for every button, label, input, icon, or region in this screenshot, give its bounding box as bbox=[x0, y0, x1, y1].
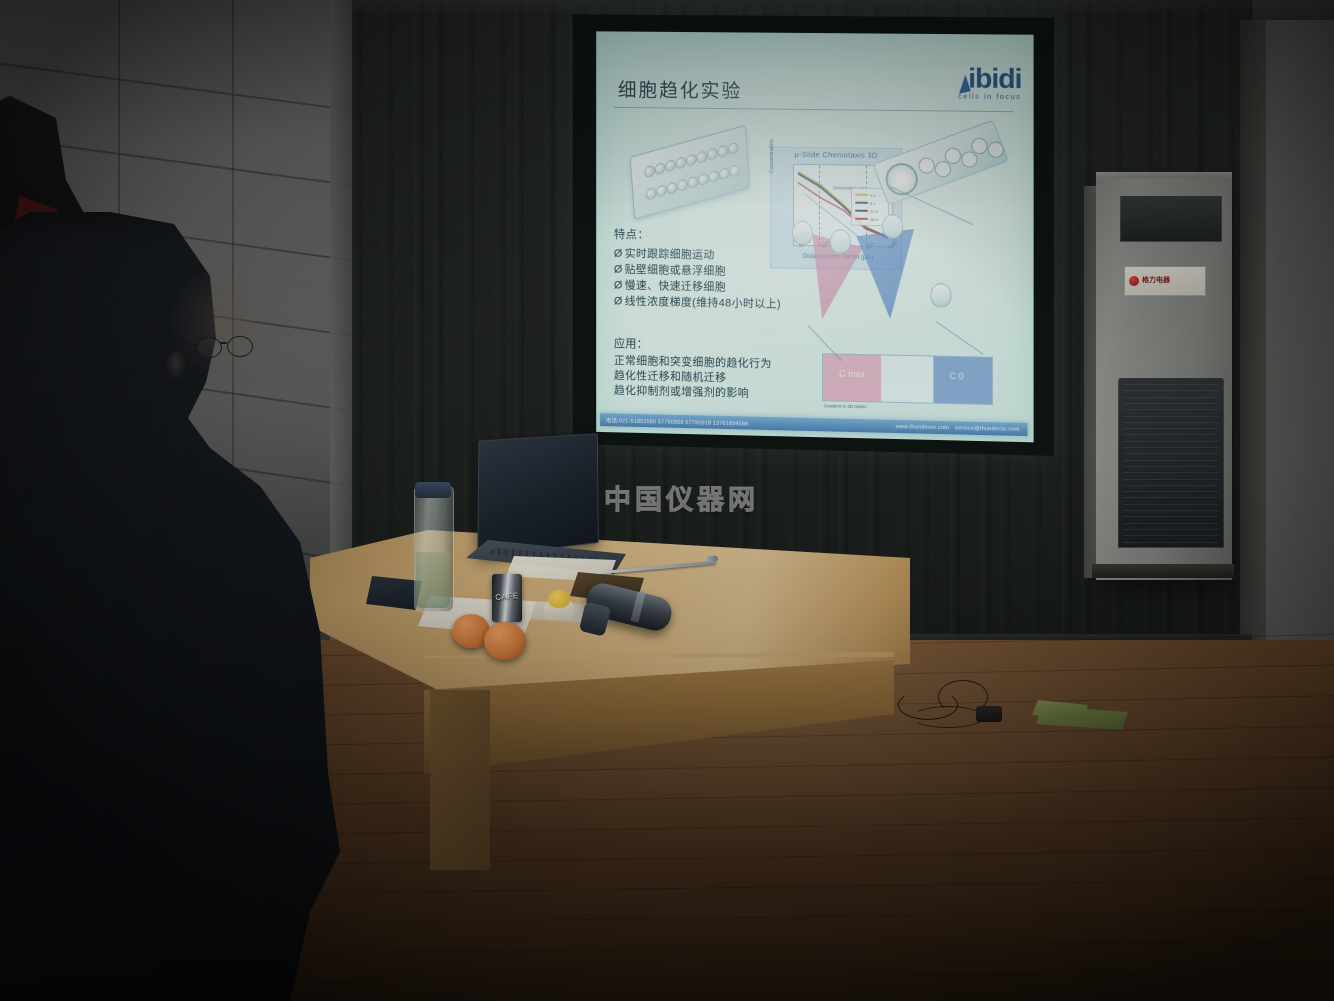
feature-text: 实时跟踪细胞运动 bbox=[625, 248, 715, 261]
reservoir-note: Gradient in 3D matrix bbox=[824, 403, 867, 409]
grille-slat bbox=[1123, 409, 1219, 410]
footer-email: service@thunderso.com bbox=[955, 425, 1028, 433]
reservoir-left-label: C max bbox=[823, 354, 881, 379]
grille-slat bbox=[1123, 422, 1219, 423]
air-conditioner-brand: 格力电器 bbox=[1142, 277, 1170, 285]
grille-slat bbox=[1123, 497, 1219, 498]
air-conditioner-bottom-grille bbox=[1118, 378, 1224, 548]
reservoir-right: C 0 bbox=[933, 357, 992, 405]
grille-slat bbox=[1123, 466, 1219, 467]
chart-title: μ-Slide Chemotaxis 3D bbox=[771, 150, 901, 161]
reservoir-drop-icon bbox=[882, 214, 903, 238]
footer-website: www.thunderso.com bbox=[896, 423, 955, 430]
feature-heading: 特点： bbox=[614, 226, 781, 245]
ear bbox=[166, 352, 186, 380]
legend-label: 6 h bbox=[870, 200, 876, 205]
grille-slat bbox=[1123, 535, 1219, 536]
slide-footer-bar: 电话:021-51802580 57790908 57790918 137618… bbox=[600, 413, 1027, 436]
grille-slat bbox=[1123, 472, 1219, 473]
bullet-marker-icon: Ø bbox=[614, 278, 625, 294]
projection-screen-frame: 细胞趋化实验 ibidi cells in focus μ-Slide Chem… bbox=[573, 14, 1054, 456]
grille-slat bbox=[1123, 504, 1219, 505]
glasses-lens bbox=[196, 337, 222, 358]
laptop-screen[interactable] bbox=[477, 433, 598, 558]
legend-swatch-icon bbox=[855, 201, 868, 204]
curtain-fold bbox=[1062, 0, 1072, 668]
grille-slat bbox=[1123, 523, 1219, 524]
application-list: 应用： 正常细胞和突变细胞的趋化行为 趋化性迁移和随机迁移 趋化抑制剂或增强剂的… bbox=[614, 335, 772, 402]
slide-title: 细胞趋化实验 bbox=[618, 75, 743, 103]
air-conditioner-top-grille bbox=[1120, 196, 1222, 242]
grille-slat bbox=[1123, 428, 1219, 429]
ibidi-logo: ibidi cells in focus bbox=[958, 64, 1021, 101]
grille-slat bbox=[1123, 403, 1219, 404]
projection-screen[interactable]: 细胞趋化实验 ibidi cells in focus μ-Slide Chem… bbox=[596, 31, 1033, 442]
grille-slat bbox=[1123, 390, 1219, 391]
small-figurine-head bbox=[548, 590, 570, 608]
grille-slat bbox=[1123, 434, 1219, 435]
application-heading: 应用： bbox=[614, 335, 772, 354]
desk-leg bbox=[430, 690, 490, 870]
feature-text: 贴壁细胞或悬浮细胞 bbox=[625, 264, 726, 278]
reservoir-channel bbox=[881, 355, 933, 402]
leader-line bbox=[936, 321, 983, 354]
legend-swatch-icon bbox=[855, 193, 868, 196]
grille-slat bbox=[1123, 453, 1219, 454]
air-conditioner-brand-plate: 格力电器 bbox=[1124, 266, 1206, 296]
logo-tagline: cells in focus bbox=[958, 93, 1021, 101]
reservoir-cross-section: C max C 0 bbox=[822, 353, 993, 405]
legend-swatch-icon bbox=[855, 209, 868, 212]
glasses-lens bbox=[227, 336, 253, 357]
logo-wordmark: ibidi bbox=[968, 64, 1021, 93]
pointer-stick-tip bbox=[706, 555, 718, 562]
reservoir-drop-icon bbox=[830, 229, 851, 253]
bullet-marker-icon: Ø bbox=[614, 246, 625, 262]
right-wall-corner bbox=[1240, 20, 1266, 660]
bullet-marker-icon: Ø bbox=[614, 293, 625, 309]
grille-slat bbox=[1123, 384, 1219, 385]
legend-label: 48 h bbox=[870, 216, 878, 221]
beverage-can-label: CAFE bbox=[493, 585, 521, 609]
feature-text: 慢速、快速迁移细胞 bbox=[625, 280, 726, 294]
grille-slat bbox=[1123, 491, 1219, 492]
grille-slat bbox=[1123, 397, 1219, 398]
legend-label: 24 h bbox=[870, 208, 878, 213]
grille-slat bbox=[1123, 479, 1219, 480]
reservoir-drop-icon bbox=[792, 221, 813, 245]
grille-slat bbox=[1123, 529, 1219, 530]
feature-list: 特点： Ø实时跟踪细胞运动 Ø贴壁细胞或悬浮细胞 Ø慢速、快速迁移细胞 Ø线性浓… bbox=[614, 226, 781, 313]
air-conditioner-base bbox=[1092, 564, 1234, 578]
footer-phone: 电话:021-51802580 57790908 57790918 137618… bbox=[600, 416, 748, 427]
power-plug[interactable] bbox=[976, 706, 1002, 722]
reservoir-right-label: C 0 bbox=[933, 357, 992, 382]
bullet-marker-icon: Ø bbox=[614, 262, 625, 278]
mu-slide-render bbox=[630, 125, 750, 220]
title-divider bbox=[614, 107, 1013, 112]
grille-slat bbox=[1123, 516, 1219, 517]
leader-line bbox=[890, 186, 973, 225]
reservoir-drop-icon bbox=[930, 283, 951, 308]
mu-slide-top-view bbox=[872, 120, 1008, 206]
grille-slat bbox=[1123, 416, 1219, 417]
water-bottle-liquid bbox=[416, 552, 450, 608]
grille-slat bbox=[1123, 542, 1219, 543]
orange-fruit[interactable] bbox=[484, 622, 526, 660]
grille-slat bbox=[1123, 447, 1219, 448]
legend-label: 0 h bbox=[870, 192, 876, 197]
legend-swatch-icon bbox=[855, 217, 868, 220]
chart-y-axis-label: Concentration bbox=[769, 139, 775, 173]
feature-text: 线性浓度梯度(维持48小时以上) bbox=[625, 296, 781, 311]
conference-room-scene: 细胞趋化实验 ibidi cells in focus μ-Slide Chem… bbox=[0, 0, 1334, 1001]
reservoir-left: C max bbox=[823, 354, 881, 401]
curtain-rail bbox=[352, 0, 1252, 16]
grille-slat bbox=[1123, 510, 1219, 511]
grille-slat bbox=[1123, 441, 1219, 442]
grille-slat bbox=[1123, 485, 1219, 486]
eyeglasses-icon bbox=[196, 336, 252, 358]
feature-item: Ø线性浓度梯度(维持48小时以上) bbox=[614, 293, 781, 312]
application-item: 趋化抑制剂或增强剂的影响 bbox=[614, 384, 772, 402]
brand-logo-icon bbox=[1129, 276, 1139, 286]
power-cable bbox=[912, 706, 984, 728]
glasses-bridge bbox=[220, 342, 227, 344]
grille-slat bbox=[1123, 460, 1219, 461]
water-bottle-cap[interactable] bbox=[415, 482, 451, 498]
